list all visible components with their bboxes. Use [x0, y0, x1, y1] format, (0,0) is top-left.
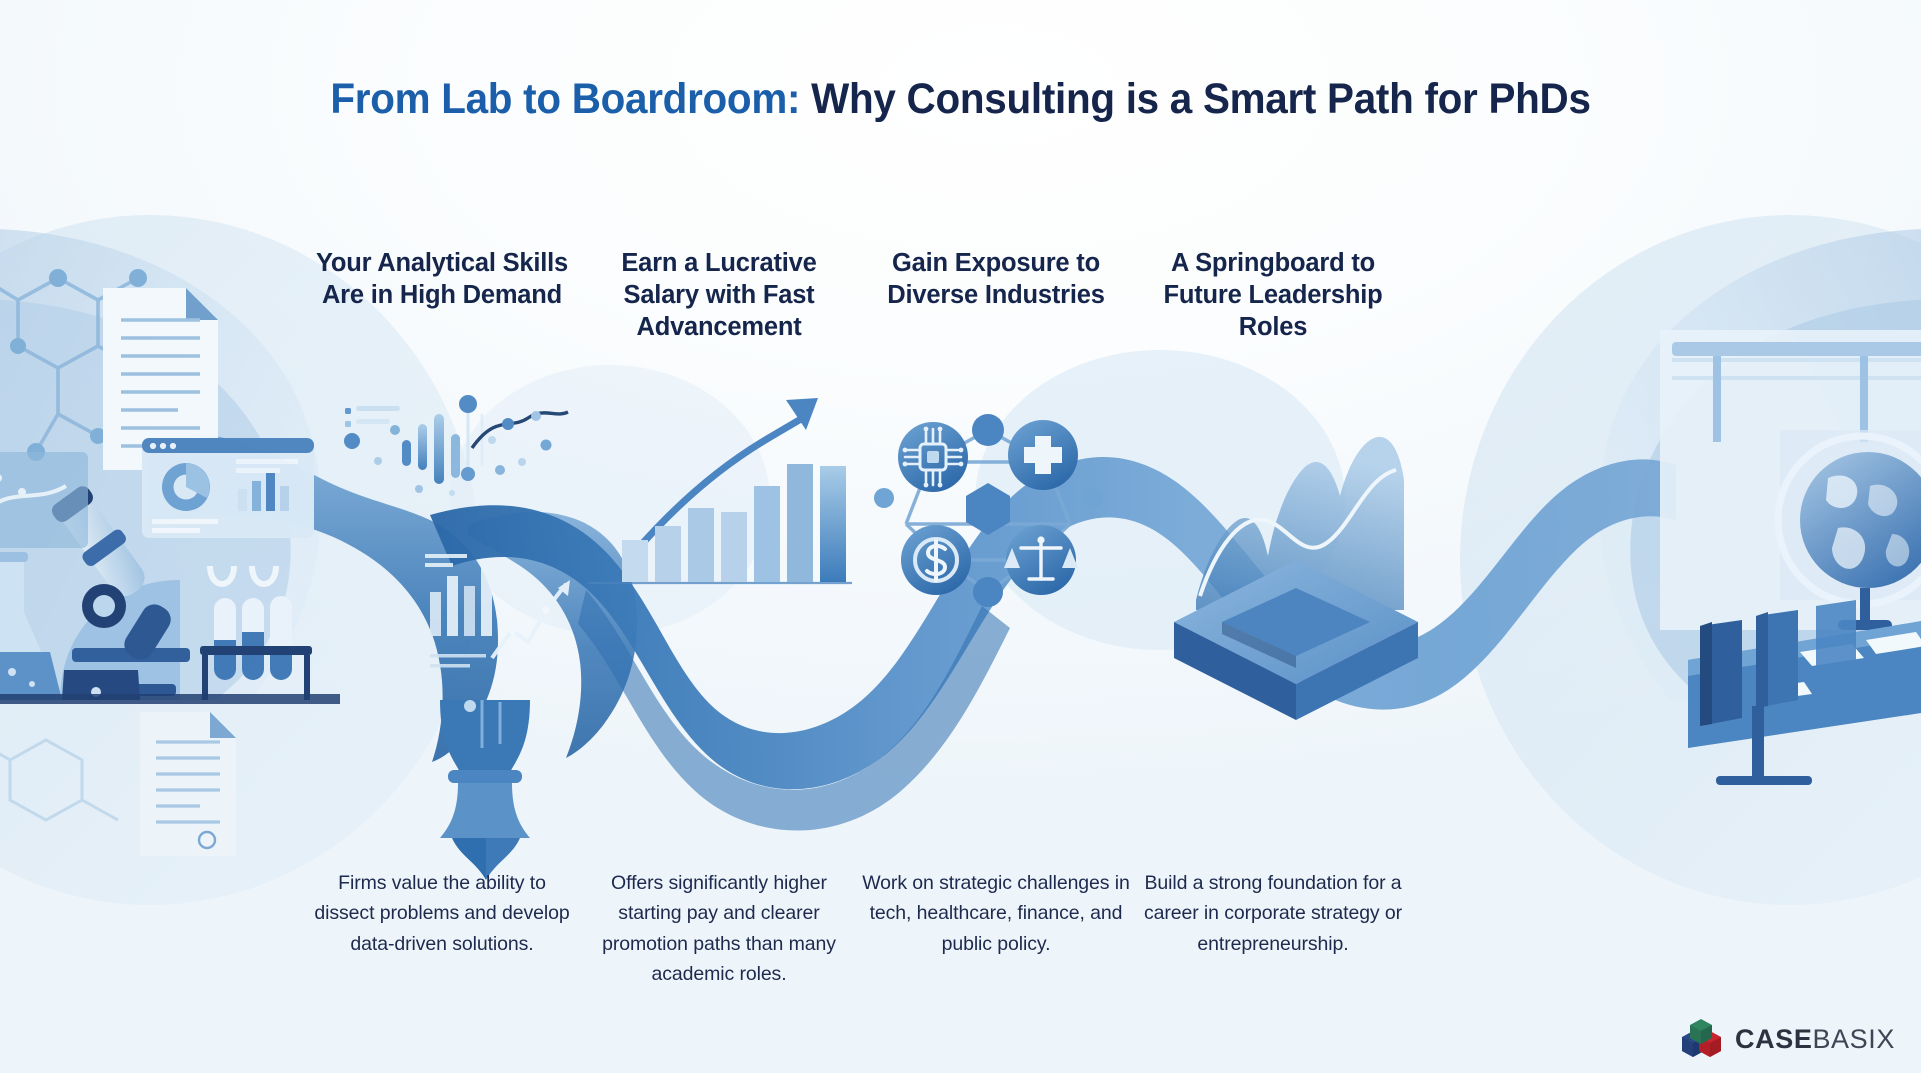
springboard-platform-icon — [1174, 437, 1418, 720]
brand-wordmark: CASEBASIX — [1735, 1026, 1895, 1053]
benefit-body: Firms value the ability to dissect probl… — [308, 868, 576, 959]
medical-cross-icon — [1008, 420, 1078, 490]
infographic-canvas: From Lab to Boardroom: Why Consulting is… — [0, 0, 1921, 1073]
office-chair — [1700, 620, 1742, 726]
page-title: From Lab to Boardroom: Why Consulting is… — [58, 76, 1864, 123]
brand-logo[interactable]: CASEBASIX — [1680, 1019, 1895, 1059]
benefit-heading: Your Analytical Skills Are in High Deman… — [308, 248, 576, 312]
industry-network-icon — [874, 414, 1102, 607]
laboratory-scene — [0, 269, 340, 856]
page-title-part-2: Why Consulting is a Smart Path for PhDs — [800, 75, 1590, 123]
growth-bar-chart-icon — [622, 398, 846, 582]
benefit-body: Build a strong foundation for a career i… — [1139, 868, 1407, 959]
benefit-body: Work on strategic challenges in tech, he… — [862, 868, 1130, 959]
lightbulb-data-icon — [344, 395, 570, 880]
lightbulb-base — [440, 700, 530, 880]
benefit-heading: Gain Exposure to Diverse Industries — [862, 248, 1130, 312]
benefit-heading: A Springboard to Future Leadership Roles — [1139, 248, 1407, 344]
erlenmeyer-flask-icon — [0, 552, 62, 700]
analytics-dashboard-window — [142, 438, 314, 538]
brand-wordmark-bold: CASE — [1735, 1026, 1812, 1053]
dollar-coin-icon — [901, 525, 971, 595]
scales-of-justice-icon — [1004, 525, 1078, 595]
brand-wordmark-light: BASIX — [1812, 1026, 1895, 1053]
office-chair — [1756, 610, 1798, 708]
boardroom-scene — [1660, 330, 1921, 785]
benefit-heading: Earn a Lucrative Salary with Fast Advanc… — [585, 248, 853, 344]
office-chair — [1816, 600, 1856, 692]
benefit-body: Offers significantly higher starting pay… — [585, 868, 853, 990]
test-tube-rack-icon — [200, 566, 312, 700]
chip-icon — [898, 422, 968, 492]
page-title-part-1: From Lab to Boardroom: — [330, 75, 800, 123]
three-cubes-icon — [1680, 1019, 1722, 1059]
